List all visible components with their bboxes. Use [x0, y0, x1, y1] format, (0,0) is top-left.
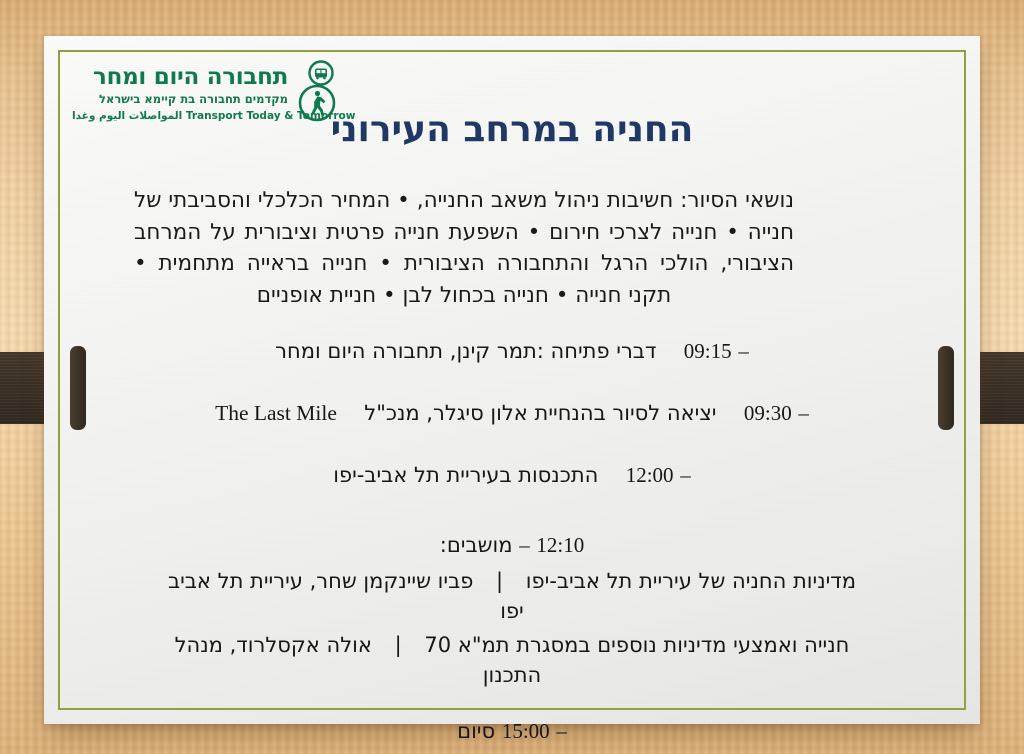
- sessions-heading-label: מושבים:: [440, 533, 513, 557]
- agenda-dash: –: [798, 401, 809, 425]
- closing-dash: –: [556, 719, 567, 743]
- agenda-text: יציאה לסיור בהנחיית אלון סיגלר, מנכ"ל: [364, 401, 716, 425]
- right-clip-cap: [938, 346, 954, 430]
- agenda-list: 09:15 – דברי פתיחה :תמר קינן, תחבורה היו…: [154, 336, 870, 522]
- logo-tagline-hebrew: מקדמים תחבורה בת קיימא בישראל: [99, 92, 288, 106]
- agenda-time: 12:00: [626, 463, 674, 487]
- slide-canvas: תחבורה היום ומחר מקדמים תחבורה בת קיימא …: [0, 0, 1024, 754]
- sessions-time: 12:10: [536, 533, 584, 557]
- sessions-heading: 12:10 – מושבים:: [154, 530, 870, 560]
- agenda-row: 09:15 – דברי פתיחה :תמר קינן, תחבורה היו…: [154, 336, 870, 366]
- agenda-dash: –: [680, 463, 691, 487]
- logo-name: תחבורה היום ומחר: [93, 64, 288, 90]
- session-topic: חנייה ואמצעי מדיניות נוספים במסגרת תמ"א …: [424, 633, 849, 657]
- agenda-time: 09:15: [684, 339, 732, 363]
- agenda-text: התכנסות בעיריית תל אביב-יפו: [333, 463, 598, 487]
- agenda-time: 09:30: [744, 401, 792, 425]
- agenda-dash: –: [738, 339, 749, 363]
- agenda-text: דברי פתיחה :תמר קינן, תחבורה היום ומחר: [275, 339, 656, 363]
- agenda-row: 12:00 – התכנסות בעיריית תל אביב-יפו: [154, 460, 870, 490]
- closing-time: 15:00: [502, 719, 550, 743]
- session-item: מדיניות החניה של עיריית תל אביב-יפו | פב…: [154, 566, 870, 626]
- page-title: החניה במרחב העירוני: [44, 109, 980, 150]
- session-speaker: פביו שיינקמן שחר, עיריית תל אביב יפו: [168, 569, 524, 623]
- agenda-row: 09:30 – יציאה לסיור בהנחיית אלון סיגלר, …: [154, 398, 870, 428]
- session-topic: מדיניות החניה של עיריית תל אביב-יפו: [526, 569, 856, 593]
- session-item: חנייה ואמצעי מדיניות נוספים במסגרת תמ"א …: [154, 630, 870, 690]
- agenda-text-latin: The Last Mile: [215, 401, 337, 425]
- sessions-block: 12:10 – מושבים: מדיניות החניה של עיריית …: [154, 530, 870, 694]
- closing-label: סיום: [457, 719, 495, 743]
- session-separator: |: [379, 630, 418, 660]
- session-separator: |: [480, 566, 519, 596]
- intro-paragraph: נושאי הסיור: חשיבות ניהול משאב החנייה, •…: [134, 185, 794, 311]
- closing-row: 15:00 – סיום: [154, 716, 870, 746]
- left-clip-cap: [70, 346, 86, 430]
- sessions-dash: –: [519, 533, 530, 557]
- paper-sheet: תחבורה היום ומחר מקדמים תחבורה בת קיימא …: [44, 36, 980, 724]
